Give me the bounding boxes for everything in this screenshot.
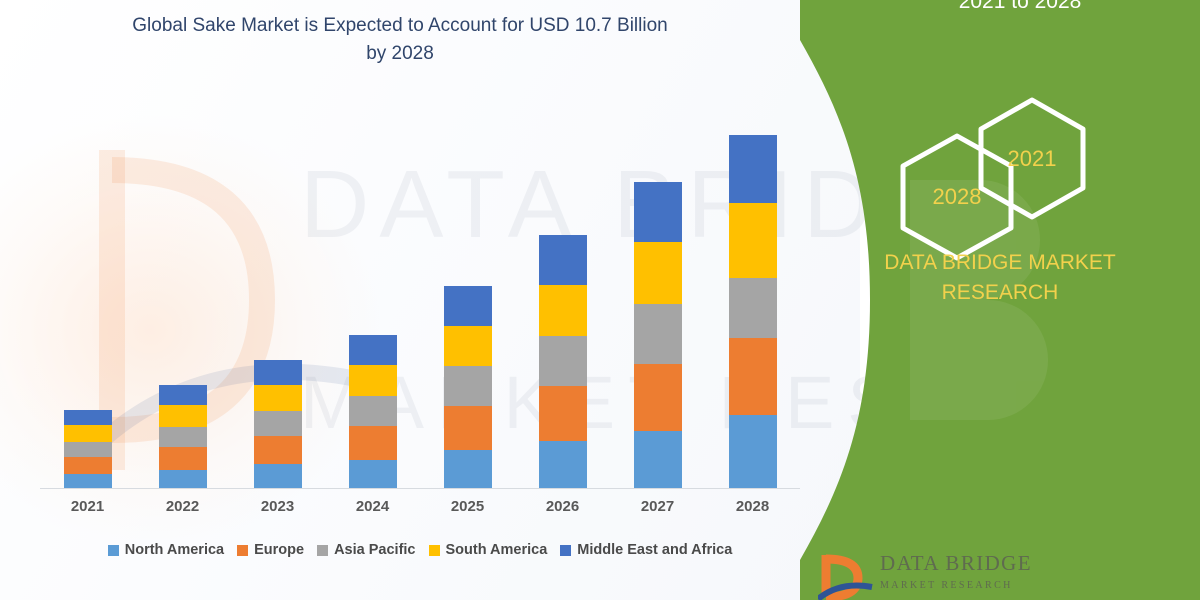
bar-segment <box>349 365 397 396</box>
bar-segment <box>64 425 112 442</box>
bar-column <box>325 100 420 488</box>
bar-segment <box>254 464 302 488</box>
bar-column <box>420 100 515 488</box>
brand-panel-content: 2021 to 2028 2028 2021 DATA BRIDGE MARKE… <box>800 0 1200 600</box>
logo-tagline: MARKET RESEARCH <box>880 580 1013 591</box>
bar-segment <box>634 431 682 488</box>
bar-segment <box>539 235 587 285</box>
bar-segment <box>444 326 492 366</box>
hexagon-outline-icon <box>898 131 1016 263</box>
x-axis-line <box>40 488 800 489</box>
hexagon-group: 2028 2021 <box>850 96 1170 231</box>
legend-item[interactable]: Asia Pacific <box>317 542 415 558</box>
bar-segment <box>349 396 397 426</box>
bar-column <box>40 100 135 488</box>
stacked-bar <box>159 385 207 488</box>
bar-segment <box>254 436 302 464</box>
bar-segment <box>634 364 682 431</box>
legend-swatch-icon <box>317 545 328 556</box>
x-axis-label: 2025 <box>420 498 515 524</box>
brand-panel: 2021 to 2028 2028 2021 DATA BRIDGE MARKE… <box>800 0 1200 600</box>
legend-swatch-icon <box>108 545 119 556</box>
bar-segment <box>444 406 492 450</box>
hexagon-outline-icon <box>977 96 1087 221</box>
x-axis-label: 2022 <box>135 498 230 524</box>
legend-label: Asia Pacific <box>334 542 415 558</box>
bar-column <box>515 100 610 488</box>
plot-area: 20212022202320242025202620272028 North A… <box>0 0 860 600</box>
bar-segment <box>254 411 302 436</box>
legend-swatch-icon <box>429 545 440 556</box>
bar-column <box>135 100 230 488</box>
logo-name: DATA BRIDGE <box>880 553 1032 574</box>
x-axis-label: 2027 <box>610 498 705 524</box>
stacked-bar <box>349 335 397 488</box>
bar-segment <box>729 278 777 338</box>
bar-column <box>705 100 800 488</box>
legend-label: Europe <box>254 542 304 558</box>
bar-segment <box>729 415 777 488</box>
x-axis-tick-labels: 20212022202320242025202620272028 <box>40 498 800 524</box>
legend-label: North America <box>125 542 224 558</box>
bar-segment <box>349 335 397 365</box>
bar-segment <box>444 450 492 488</box>
chart-infographic: DATA BRIDGE MARKET RESEARCH Global Sake … <box>0 0 1200 600</box>
x-axis-label: 2024 <box>325 498 420 524</box>
bar-segment <box>444 366 492 406</box>
stacked-bar <box>254 360 302 488</box>
stacked-bar <box>64 410 112 488</box>
bar-segment <box>349 460 397 488</box>
bar-segment <box>729 338 777 415</box>
legend-swatch-icon <box>237 545 248 556</box>
chart-legend: North AmericaEuropeAsia PacificSouth Ame… <box>40 538 800 562</box>
stacked-bar <box>729 135 777 488</box>
x-axis-label: 2026 <box>515 498 610 524</box>
bar-segment <box>539 386 587 441</box>
bar-segment <box>159 405 207 427</box>
bar-segment <box>349 426 397 460</box>
legend-item[interactable]: Middle East and Africa <box>560 542 732 558</box>
bar-segment <box>159 447 207 470</box>
x-axis-label: 2023 <box>230 498 325 524</box>
cagr-period-text: 2021 to 2028 <box>870 0 1170 15</box>
legend-label: Middle East and Africa <box>577 542 732 558</box>
bar-segment <box>254 360 302 385</box>
bar-segment <box>159 427 207 447</box>
bar-segment <box>729 203 777 278</box>
bar-segment <box>64 457 112 474</box>
bar-segment <box>254 385 302 411</box>
bar-segment <box>444 286 492 326</box>
bar-segment <box>159 385 207 405</box>
brand-name-text: DATA BRIDGE MARKET RESEARCH <box>820 248 1180 308</box>
green-panel-shape <box>800 0 1200 600</box>
bar-segment <box>159 470 207 488</box>
hexagon-2021-label: 2021 <box>977 146 1087 172</box>
bar-column <box>230 100 325 488</box>
stacked-bar <box>539 235 587 488</box>
legend-item[interactable]: North America <box>108 542 224 558</box>
hexagon-2028-label: 2028 <box>898 184 1016 210</box>
legend-swatch-icon <box>560 545 571 556</box>
bar-segment <box>539 441 587 488</box>
bar-segment <box>64 410 112 425</box>
company-logo: DATA BRIDGE MARKET RESEARCH <box>818 553 1198 600</box>
stacked-bar <box>634 182 682 488</box>
stacked-bar <box>444 286 492 488</box>
bar-segment <box>64 474 112 488</box>
hexagon-2028: 2028 <box>898 131 1016 263</box>
bar-segment <box>729 135 777 203</box>
bar-segment <box>64 442 112 457</box>
bar-segment <box>634 182 682 242</box>
legend-label: South America <box>446 542 548 558</box>
legend-item[interactable]: Europe <box>237 542 304 558</box>
bar-segment <box>634 304 682 364</box>
bar-segment <box>539 285 587 336</box>
legend-item[interactable]: South America <box>429 542 548 558</box>
bar-segment <box>634 242 682 304</box>
x-axis-label: 2028 <box>705 498 800 524</box>
hexagon-2021: 2021 <box>977 96 1087 221</box>
bar-segment <box>539 336 587 386</box>
bar-series-container <box>40 100 800 488</box>
x-axis-label: 2021 <box>40 498 135 524</box>
bar-column <box>610 100 705 488</box>
